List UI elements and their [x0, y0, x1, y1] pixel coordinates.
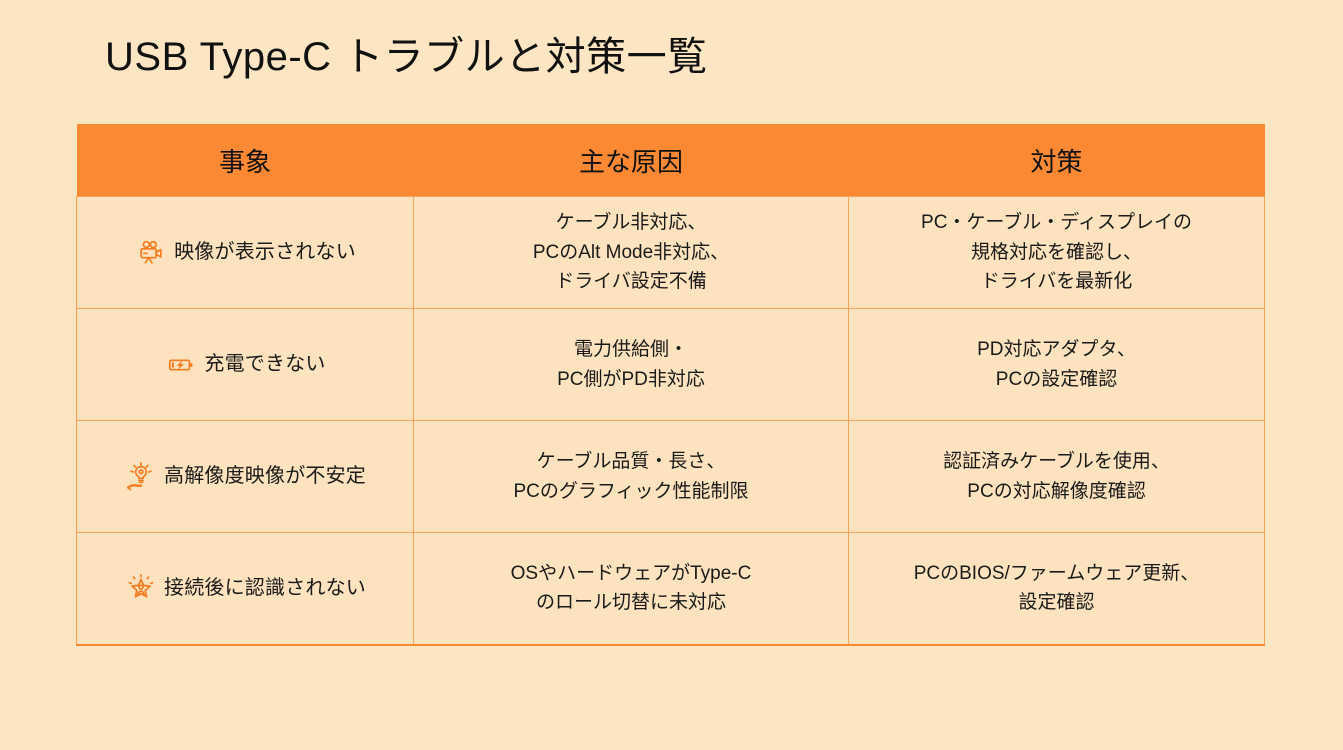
issue-label: 高解像度映像が不安定 — [164, 461, 366, 492]
troubleshooting-table-wrapper: 事象 主な原因 対策 — [76, 124, 1264, 646]
star-person-icon — [124, 571, 158, 605]
action-cell: PCのBIOS/ファームウェア更新、 設定確認 — [849, 533, 1265, 645]
cause-line: ケーブル品質・長さ、 — [428, 447, 834, 476]
action-line: 設定確認 — [863, 588, 1250, 617]
cause-line: のロール切替に未対応 — [428, 588, 834, 617]
action-line: PCのBIOS/ファームウェア更新、 — [863, 559, 1250, 588]
column-header-issue: 事象 — [77, 124, 414, 197]
cause-line: PC側がPD非対応 — [428, 365, 834, 394]
movie-camera-icon — [134, 236, 168, 270]
issue-label: 充電できない — [204, 349, 325, 380]
battery-charging-icon — [164, 348, 198, 382]
action-cell: 認証済みケーブルを使用、 PCの対応解像度確認 — [849, 421, 1265, 533]
cause-cell: ケーブル非対応、 PCのAlt Mode非対応、 ドライバ設定不備 — [414, 197, 849, 309]
action-cell: PD対応アダプタ、 PCの設定確認 — [849, 309, 1265, 421]
action-line: ドライバを最新化 — [863, 267, 1250, 296]
cause-line: PCのAlt Mode非対応、 — [428, 238, 834, 267]
troubleshooting-table: 事象 主な原因 対策 — [76, 124, 1265, 646]
action-line: PCの対応解像度確認 — [863, 477, 1250, 506]
action-line: PCの設定確認 — [863, 365, 1250, 394]
table-header: 事象 主な原因 対策 — [77, 124, 1265, 197]
cause-cell: 電力供給側・ PC側がPD非対応 — [414, 309, 849, 421]
table-row: 接続後に認識されない OSやハードウェアがType-C のロール切替に未対応 P… — [77, 533, 1265, 645]
action-line: 認証済みケーブルを使用、 — [863, 447, 1250, 476]
action-cell: PC・ケーブル・ディスプレイの 規格対応を確認し、 ドライバを最新化 — [849, 197, 1265, 309]
lightbulb-in-hand-icon — [124, 460, 158, 494]
column-header-cause: 主な原因 — [414, 124, 849, 197]
issue-label: 映像が表示されない — [174, 237, 356, 268]
table-header-row: 事象 主な原因 対策 — [77, 124, 1265, 197]
table-row: 高解像度映像が不安定 ケーブル品質・長さ、 PCのグラフィック性能制限 認証済み… — [77, 421, 1265, 533]
cause-line: ケーブル非対応、 — [428, 208, 834, 237]
cause-line: PCのグラフィック性能制限 — [428, 477, 834, 506]
table-row: 映像が表示されない ケーブル非対応、 PCのAlt Mode非対応、 ドライバ設… — [77, 197, 1265, 309]
issue-label: 接続後に認識されない — [164, 573, 366, 604]
column-header-action: 対策 — [849, 124, 1265, 197]
cause-line: ドライバ設定不備 — [428, 267, 834, 296]
issue-cell: 充電できない — [77, 309, 414, 421]
action-line: PD対応アダプタ、 — [863, 335, 1250, 364]
cause-line: 電力供給側・ — [428, 335, 834, 364]
action-line: 規格対応を確認し、 — [863, 238, 1250, 267]
cause-cell: OSやハードウェアがType-C のロール切替に未対応 — [414, 533, 849, 645]
cause-cell: ケーブル品質・長さ、 PCのグラフィック性能制限 — [414, 421, 849, 533]
issue-cell: 接続後に認識されない — [77, 533, 414, 645]
table-row: 充電できない 電力供給側・ PC側がPD非対応 PD対応アダプタ、 PCの設定確… — [77, 309, 1265, 421]
page-title: USB Type-C トラブルと対策一覧 — [105, 24, 708, 82]
cause-line: OSやハードウェアがType-C — [428, 559, 834, 588]
issue-cell: 映像が表示されない — [77, 197, 414, 309]
slide-root: USB Type-C トラブルと対策一覧 事象 主な原因 対策 — [0, 0, 1343, 750]
action-line: PC・ケーブル・ディスプレイの — [863, 208, 1250, 237]
issue-cell: 高解像度映像が不安定 — [77, 421, 414, 533]
table-body: 映像が表示されない ケーブル非対応、 PCのAlt Mode非対応、 ドライバ設… — [77, 197, 1265, 645]
